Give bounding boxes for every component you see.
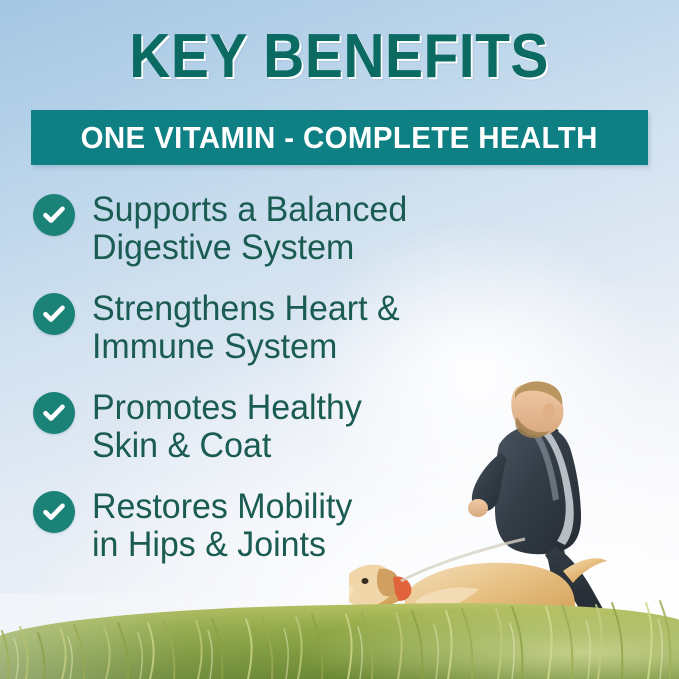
check-circle-icon — [33, 194, 75, 236]
benefit-item: Supports a Balanced Digestive System — [33, 190, 463, 267]
benefit-text: Restores Mobility in Hips & Joints — [92, 487, 352, 564]
grass-field — [0, 587, 679, 679]
benefit-item: Restores Mobility in Hips & Joints — [33, 487, 463, 564]
check-circle-icon — [33, 392, 75, 434]
benefit-text: Supports a Balanced Digestive System — [92, 190, 407, 267]
benefits-list: Supports a Balanced Digestive System Str… — [33, 190, 463, 586]
check-circle-icon — [33, 293, 75, 335]
check-circle-icon — [33, 491, 75, 533]
page-title: KEY BENEFITS — [130, 26, 550, 88]
page-title-area: KEY BENEFITS — [0, 26, 679, 88]
benefit-text: Strengthens Heart & Immune System — [92, 289, 400, 366]
subtitle-banner-text: ONE VITAMIN - COMPLETE HEALTH — [81, 122, 598, 153]
benefit-item: Strengthens Heart & Immune System — [33, 289, 463, 366]
subtitle-banner: ONE VITAMIN - COMPLETE HEALTH — [31, 110, 648, 165]
key-benefits-poster: KEY BENEFITS ONE VITAMIN - COMPLETE HEAL… — [0, 0, 679, 679]
benefit-text: Promotes Healthy Skin & Coat — [92, 388, 362, 465]
benefit-item: Promotes Healthy Skin & Coat — [33, 388, 463, 465]
